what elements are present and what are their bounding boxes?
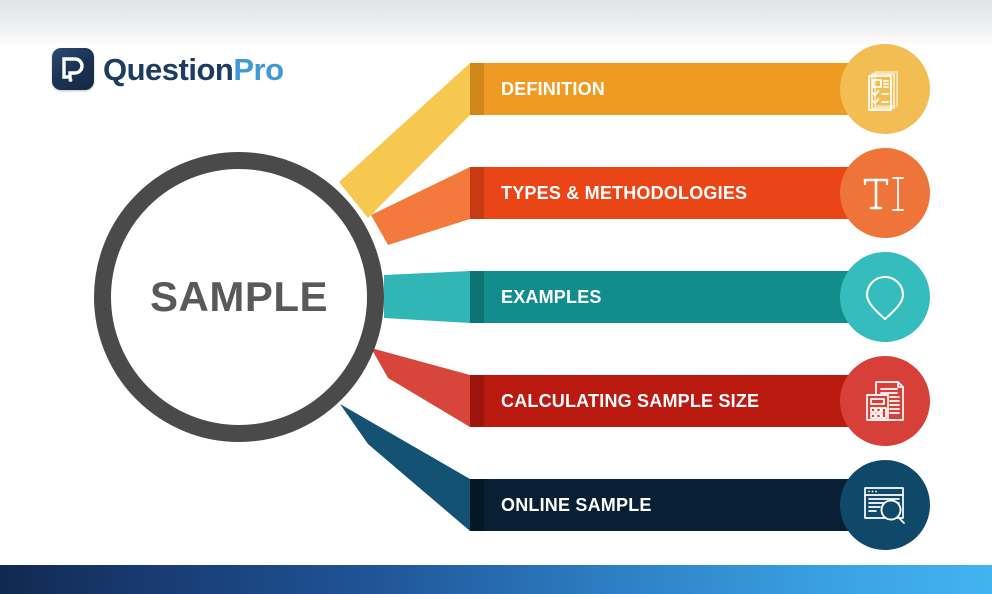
map-pin-icon bbox=[863, 272, 907, 322]
icon-circle-calculating[interactable] bbox=[840, 356, 930, 446]
bar-online[interactable]: ONLINE SAMPLE bbox=[470, 479, 890, 531]
checklist-documents-icon bbox=[861, 65, 909, 113]
bar-types[interactable]: TYPES & METHODOLOGIES bbox=[470, 167, 890, 219]
icon-circle-online[interactable] bbox=[840, 460, 930, 550]
infographic-canvas: QuestionPro DEFINITION bbox=[0, 0, 992, 594]
bar-label-types: TYPES & METHODOLOGIES bbox=[501, 183, 747, 204]
browser-search-icon bbox=[860, 482, 910, 528]
center-circle: SAMPLE bbox=[94, 152, 384, 442]
center-label: SAMPLE bbox=[150, 273, 328, 321]
bar-cap-online bbox=[470, 479, 484, 531]
bar-calculating[interactable]: CALCULATING SAMPLE SIZE bbox=[470, 375, 890, 427]
calculator-document-icon bbox=[860, 377, 910, 425]
icon-circle-definition[interactable] bbox=[840, 44, 930, 134]
bar-label-calculating: CALCULATING SAMPLE SIZE bbox=[501, 391, 759, 412]
icon-circle-examples[interactable] bbox=[840, 252, 930, 342]
bar-definition[interactable]: DEFINITION bbox=[470, 63, 890, 115]
bar-examples[interactable]: EXAMPLES bbox=[470, 271, 890, 323]
bar-cap-calculating bbox=[470, 375, 484, 427]
connector-calculating bbox=[371, 348, 470, 427]
text-cursor-icon bbox=[860, 169, 910, 217]
bar-label-definition: DEFINITION bbox=[501, 79, 605, 100]
bar-label-online: ONLINE SAMPLE bbox=[501, 495, 652, 516]
bar-cap-examples bbox=[470, 271, 484, 323]
connector-examples bbox=[384, 271, 470, 323]
connector-online bbox=[340, 404, 470, 531]
bar-cap-definition bbox=[470, 63, 484, 115]
bar-label-examples: EXAMPLES bbox=[501, 287, 602, 308]
icon-circle-types[interactable] bbox=[840, 148, 930, 238]
bar-cap-types bbox=[470, 167, 484, 219]
